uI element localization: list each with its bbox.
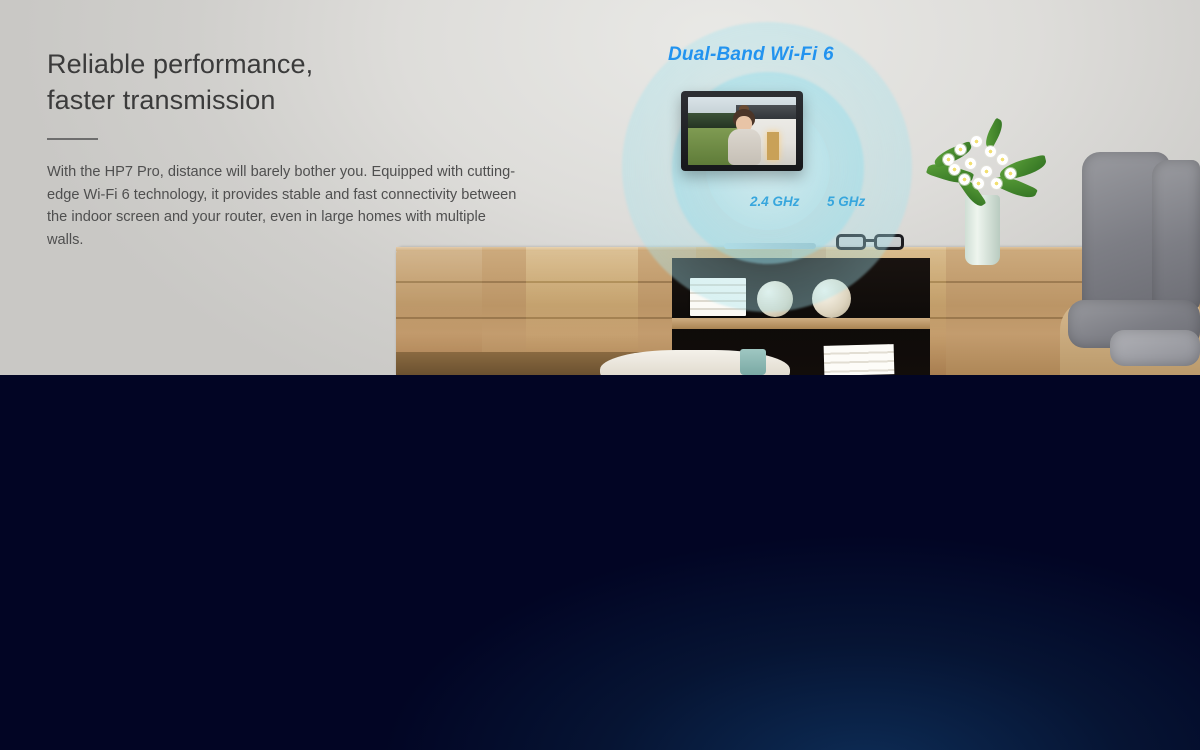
top-section: Dual-Band Wi-Fi 6 2.4 GHz 5 GHz Reliable… bbox=[0, 0, 1200, 375]
teal-cup bbox=[740, 349, 766, 375]
top-divider-rule bbox=[47, 138, 98, 140]
armchair-front-cushion bbox=[1110, 330, 1200, 366]
top-body-text: With the HP7 Pro, distance will barely b… bbox=[47, 161, 525, 251]
plant-foliage bbox=[925, 120, 1050, 210]
stacked-books bbox=[824, 344, 895, 375]
bottom-section: 0 0 0 0 1 0 0 0 0 1 0 0 1 1 0 0 0 0 0 0 … bbox=[0, 375, 1200, 750]
top-heading-line1: Reliable performance, bbox=[47, 46, 547, 82]
monitor-screen-image bbox=[688, 97, 796, 165]
top-heading: Reliable performance, faster transmissio… bbox=[47, 46, 547, 118]
promo-page: Dual-Band Wi-Fi 6 2.4 GHz 5 GHz Reliable… bbox=[0, 0, 1200, 750]
band-label-24ghz: 2.4 GHz bbox=[750, 194, 800, 209]
top-copy-block: Reliable performance, faster transmissio… bbox=[47, 46, 547, 251]
top-heading-line2: faster transmission bbox=[47, 82, 547, 118]
indoor-screen-monitor bbox=[681, 91, 803, 171]
wifi-title-label: Dual-Band Wi-Fi 6 bbox=[668, 44, 928, 66]
band-label-5ghz: 5 GHz bbox=[827, 194, 865, 209]
cubby-shelf-board bbox=[672, 318, 930, 329]
armchair-side-cushion bbox=[1152, 160, 1200, 310]
